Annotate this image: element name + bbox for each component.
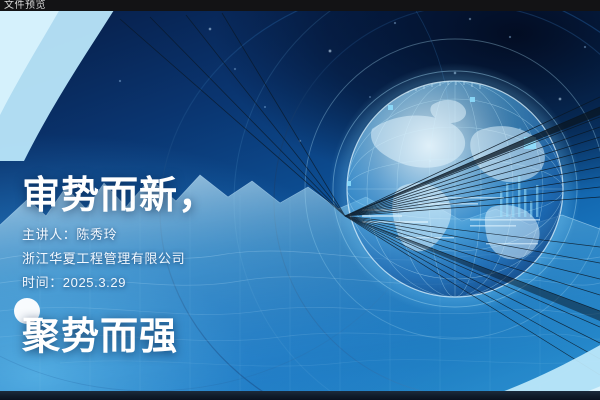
window-bottom-bar bbox=[0, 391, 600, 400]
window-title-bar: 文件预览 bbox=[0, 0, 600, 11]
headline-line-2: 聚势而强 bbox=[22, 314, 217, 361]
slide-byline: 主讲人：陈秀玲 浙江华夏工程管理有限公司 时间：2025.3.29 bbox=[22, 223, 185, 295]
presentation-slide: 审势而新， 聚势而强 主讲人：陈秀玲 浙江华夏工程管理有限公司 时间：2025.… bbox=[0, 11, 600, 391]
byline-speaker: 主讲人：陈秀玲 bbox=[22, 223, 185, 247]
window-title: 文件预览 bbox=[4, 0, 46, 11]
slide-preview-window: 文件预览 bbox=[0, 0, 600, 400]
byline-date: 时间：2025.3.29 bbox=[22, 271, 185, 295]
cyan-corner-arc-bottom-right bbox=[470, 311, 600, 391]
headline-line-1: 审势而新， bbox=[22, 173, 217, 220]
byline-organization: 浙江华夏工程管理有限公司 bbox=[22, 247, 185, 271]
